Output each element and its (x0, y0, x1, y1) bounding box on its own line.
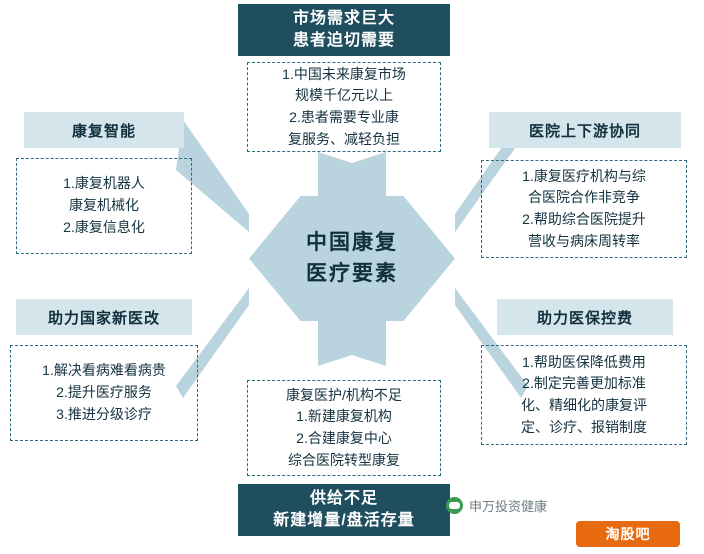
right-bottom-detail-line-3: 化、精细化的康复评 (521, 395, 647, 417)
top-detail-line-2: 规模千亿元以上 (295, 85, 393, 107)
bottom-detail-line-2: 1.新建康复机构 (296, 406, 392, 428)
left-bottom-detail-box: 1.解决看病难看病贵 2.提升医疗服务 3.推进分级诊疗 (10, 345, 198, 441)
center-hexagon-label: 中国康复 医疗要素 (249, 196, 455, 321)
left-top-detail-line-2: 康复机械化 (69, 195, 139, 217)
bottom-detail-line-1: 康复医护/机构不足 (286, 385, 402, 407)
chip-left-bottom: 助力国家新医改 (16, 299, 192, 335)
bottom-title-line-1: 供给不足 (310, 488, 378, 510)
center-line-1: 中国康复 (306, 228, 398, 258)
chip-right-top: 医院上下游协同 (489, 112, 681, 148)
site-badge: 淘股吧 (576, 521, 680, 547)
top-detail-line-1: 1.中国未来康复市场 (282, 64, 406, 86)
bottom-title-bar: 供给不足 新建增量/盘活存量 (238, 484, 450, 536)
center-hexagon: 中国康复 医疗要素 (249, 196, 455, 321)
left-top-detail-line-1: 1.康复机器人 (63, 173, 145, 195)
left-bottom-detail-line-2: 2.提升医疗服务 (56, 382, 152, 404)
watermark-label: 申万投资健康 (469, 496, 547, 515)
top-detail-line-3: 2.患者需要专业康 (289, 107, 399, 129)
left-top-detail-box: 1.康复机器人 康复机械化 2.康复信息化 (16, 158, 192, 254)
watermark: 申万投资健康 (446, 496, 547, 515)
center-line-2: 医疗要素 (306, 259, 398, 289)
right-bottom-detail-line-1: 1.帮助医保降低费用 (522, 352, 646, 374)
right-top-detail-box: 1.康复医疗机构与综 合医院合作非竞争 2.帮助综合医院提升 营收与病床周转率 (481, 160, 687, 258)
right-bottom-detail-line-4: 定、诊疗、报销制度 (521, 417, 647, 439)
top-title-bar: 市场需求巨大 患者迫切需要 (238, 4, 450, 56)
right-top-detail-line-3: 2.帮助综合医院提升 (522, 209, 646, 231)
diagram-canvas: 市场需求巨大 患者迫切需要 1.中国未来康复市场 规模千亿元以上 2.患者需要专… (0, 0, 704, 554)
left-bottom-detail-line-3: 3.推进分级诊疗 (56, 404, 152, 426)
left-top-detail-line-3: 2.康复信息化 (63, 217, 145, 239)
right-top-detail-line-4: 营收与病床周转率 (528, 231, 640, 253)
top-detail-line-4: 复服务、减轻负担 (288, 129, 400, 151)
chip-right-bottom: 助力医保控费 (497, 299, 673, 335)
right-top-detail-line-2: 合医院合作非竞争 (528, 187, 640, 209)
bottom-detail-line-4: 综合医院转型康复 (288, 450, 400, 472)
bottom-detail-box: 康复医护/机构不足 1.新建康复机构 2.合建康复中心 综合医院转型康复 (247, 380, 441, 476)
top-title-line-1: 市场需求巨大 (293, 8, 395, 30)
bottom-detail-line-3: 2.合建康复中心 (296, 428, 392, 450)
right-bottom-detail-line-2: 2.制定完善更加标准 (522, 373, 646, 395)
chip-left-top: 康复智能 (24, 112, 184, 148)
right-top-detail-line-1: 1.康复医疗机构与综 (522, 166, 646, 188)
top-title-line-2: 患者迫切需要 (293, 30, 395, 52)
right-bottom-detail-box: 1.帮助医保降低费用 2.制定完善更加标准 化、精细化的康复评 定、诊疗、报销制… (481, 345, 687, 445)
left-bottom-detail-line-1: 1.解决看病难看病贵 (42, 360, 166, 382)
wechat-logo-icon (446, 497, 463, 514)
top-detail-box: 1.中国未来康复市场 规模千亿元以上 2.患者需要专业康 复服务、减轻负担 (247, 62, 441, 152)
bottom-title-line-2: 新建增量/盘活存量 (273, 510, 414, 532)
